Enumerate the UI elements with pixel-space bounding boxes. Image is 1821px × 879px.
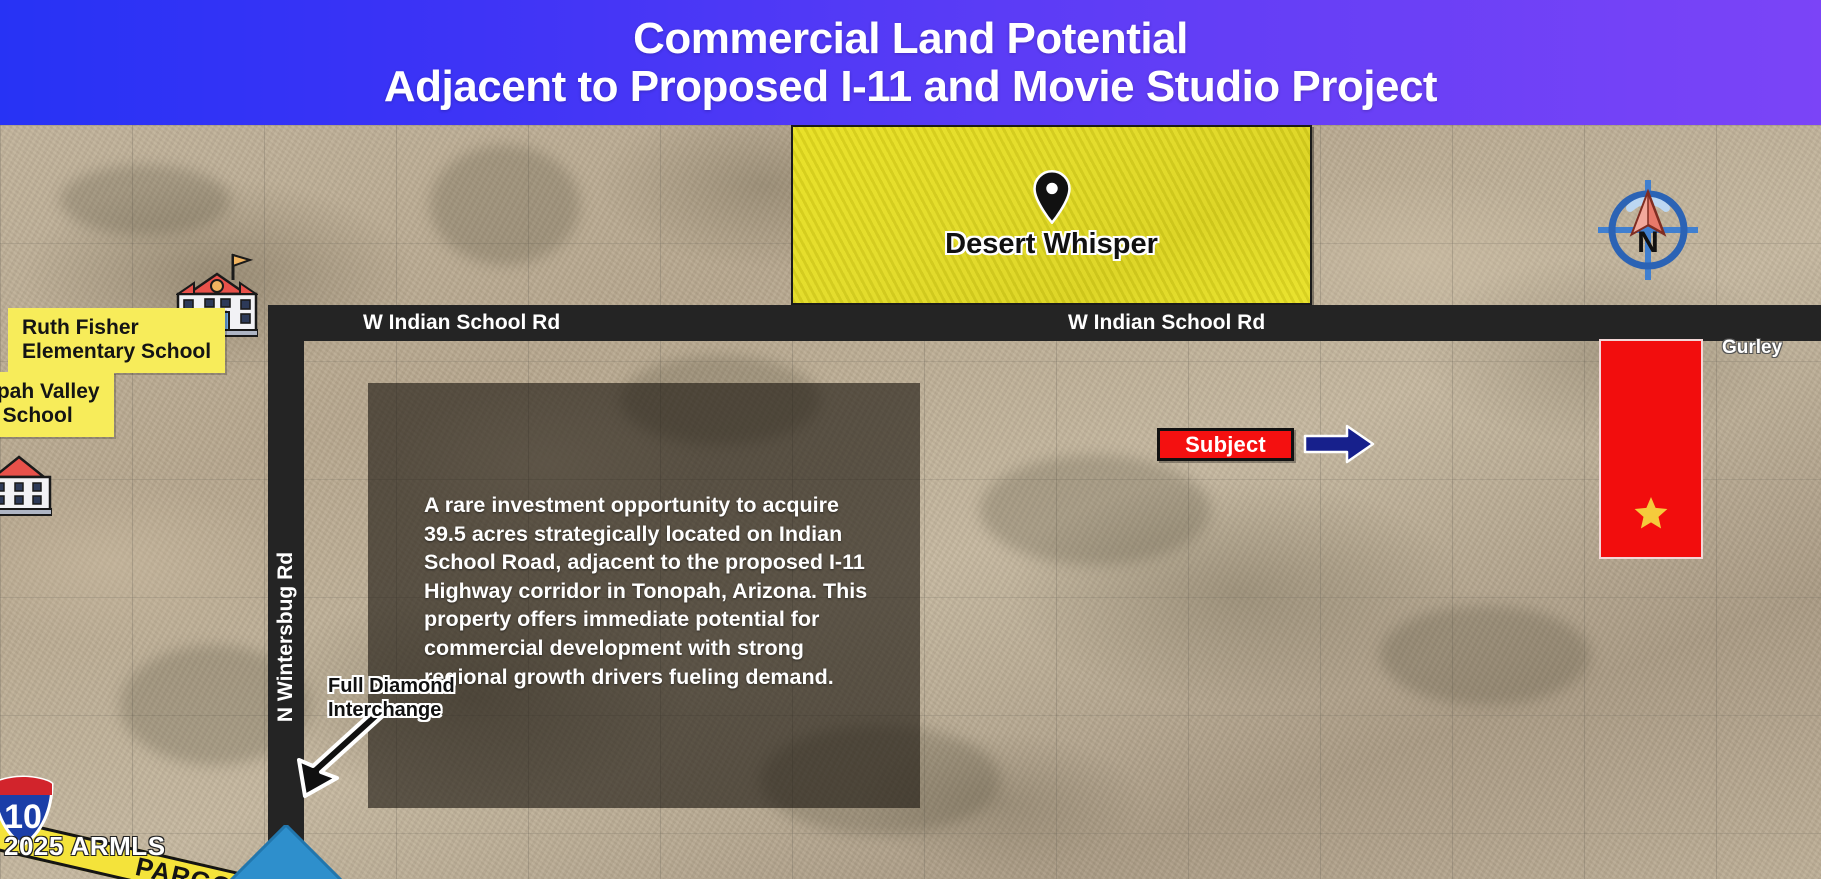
- terrain-wash: [1380, 605, 1590, 705]
- subject-callout-label: Subject: [1185, 432, 1266, 458]
- flyer-header: Commercial Land Potential Adjacent to Pr…: [0, 0, 1821, 125]
- terrain-wash: [430, 145, 580, 265]
- arrow-icon: [275, 710, 395, 800]
- label-full-diamond-interchange: Full Diamond Interchange: [328, 675, 455, 722]
- info-panel: A rare investment opportunity to acquire…: [368, 383, 920, 808]
- road-indian-school[interactable]: W Indian School Rd W Indian School Rd: [268, 305, 1821, 341]
- header-title-line1: Commercial Land Potential: [633, 15, 1188, 63]
- school-icon: [0, 445, 52, 517]
- compass-rose-icon: N: [1596, 178, 1700, 282]
- aerial-map[interactable]: Desert Whisper W Indian School Rd W Indi…: [0, 125, 1821, 879]
- label-tonopah-valley-high[interactable]: opah Valley h School: [0, 372, 114, 437]
- header-title-line2: Adjacent to Proposed I-11 and Movie Stud…: [384, 63, 1437, 111]
- parcel-desert-whisper-label: Desert Whisper: [945, 228, 1158, 261]
- road-label-wintersbug: N Wintersbug Rd: [274, 552, 298, 722]
- listing-flyer: Commercial Land Potential Adjacent to Pr…: [0, 0, 1821, 879]
- armls-watermark: 2025 ARMLS: [4, 831, 166, 862]
- road-label-indian-school-left: W Indian School Rd: [363, 311, 560, 335]
- map-text-gurley: Gurley: [1722, 337, 1782, 359]
- map-pin-icon: [1032, 170, 1072, 224]
- svg-text:N: N: [1637, 226, 1659, 259]
- terrain-wash: [980, 455, 1210, 565]
- label-ruth-fisher-elementary[interactable]: Ruth Fisher Elementary School: [8, 308, 225, 373]
- star-icon: [1634, 496, 1668, 530]
- info-panel-body: A rare investment opportunity to acquire…: [424, 491, 876, 691]
- road-label-indian-school-right: W Indian School Rd: [1068, 311, 1265, 335]
- parcel-subject[interactable]: [1599, 339, 1703, 559]
- right-arrow-icon: [1303, 423, 1375, 465]
- subject-callout-box[interactable]: Subject: [1157, 428, 1294, 461]
- desert-whisper-marker: Desert Whisper: [791, 125, 1312, 305]
- terrain-wash: [60, 165, 230, 235]
- diamond-interchange-shape: [196, 825, 376, 879]
